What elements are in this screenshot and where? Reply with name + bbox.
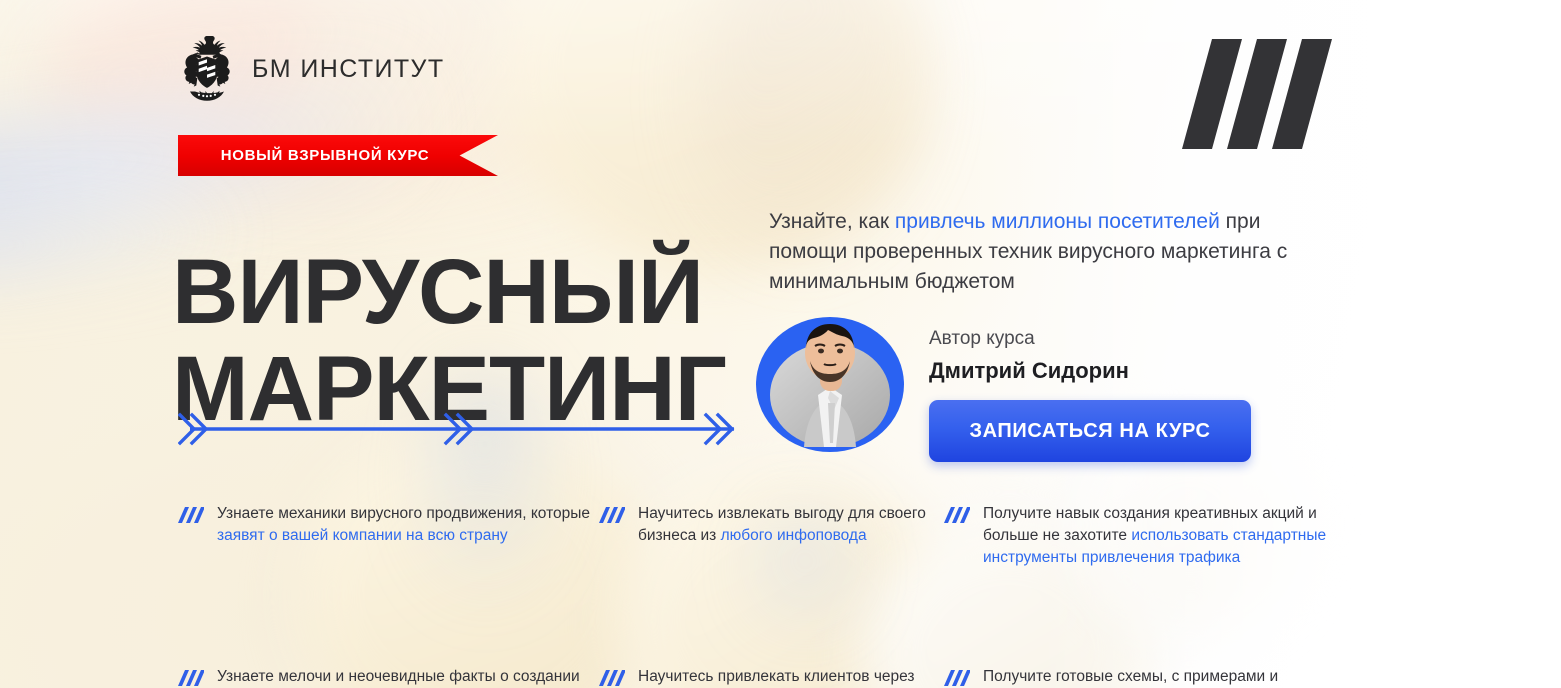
avatar [756,304,904,452]
feature-text: Научитесь извлекать выгоду для своего би… [638,503,944,569]
subtitle-highlight: привлечь миллионы посетителей [895,210,1220,233]
triple-slash-icon [178,670,204,688]
triple-slash-icon [944,507,970,569]
feature-row-2: Узнаете мелочи и неочевидные факты о соз… [178,666,1358,688]
feature-row-1: Узнаете механики вирусного продвижения, … [178,503,1358,569]
brand-name: БМ ИНСТИТУТ [252,55,445,84]
landing-page-hero: БМ ИНСТИТУТ НОВЫЙ ВЗРЫВНОЙ КУРС ВИРУСНЫЙ… [0,0,1561,688]
list-item: Получите готовые схемы, с примерами и ра… [944,666,1344,688]
author-photo [756,317,904,452]
feature-text: Получите навык создания креативных акций… [983,503,1344,569]
feature-segment: Научитесь привлекать клиентов через инте… [638,668,928,688]
triple-slash-icon [178,507,204,569]
page-title: ВИРУСНЫЙ МАРКЕТИНГ [172,248,792,434]
feature-text: Узнаете механики вирусного продвижения, … [217,503,599,569]
heraldic-crest-icon [176,33,238,105]
list-item: Научитесь извлекать выгоду для своего би… [599,503,944,569]
list-item: Научитесь привлекать клиентов через инте… [599,666,944,688]
subtitle-part-1: Узнайте, как [769,210,895,233]
list-item: Узнаете мелочи и неочевидные факты о соз… [178,666,599,688]
triple-slash-icon [944,670,970,688]
new-course-ribbon: НОВЫЙ ВЗРЫВНОЙ КУРС [178,135,498,176]
feature-text: Научитесь привлекать клиентов через инте… [638,666,944,688]
triple-slash-icon [1182,39,1332,149]
list-item: Узнаете механики вирусного продвижения, … [178,503,599,569]
feature-segment: Узнаете мелочи и неочевидные факты о соз… [217,668,580,685]
feature-segment-highlight: любого инфоповода [721,527,867,544]
brand-logo[interactable]: БМ ИНСТИТУТ [176,33,445,105]
feature-segment-highlight: заявят о вашей компании на всю страну [217,527,508,544]
enroll-button[interactable]: ЗАПИСАТЬСЯ НА КУРС [929,400,1251,462]
triple-slash-icon [599,507,625,569]
ribbon-label: НОВЫЙ ВЗРЫВНОЙ КУРС [221,147,456,164]
list-item: Получите навык создания креативных акций… [944,503,1344,569]
feature-text: Узнаете мелочи и неочевидные факты о соз… [217,666,599,688]
feature-text: Получите готовые схемы, с примерами и ра… [983,666,1344,688]
hero-subtitle: Узнайте, как привлечь миллионы посетител… [769,207,1289,296]
headline-line-1: ВИРУСНЫЙ [172,241,703,343]
feature-segment: Получите готовые схемы, с примерами и ра… [983,668,1331,688]
author-role: Автор курса [929,328,1129,350]
author-name: Дмитрий Сидорин [929,358,1129,384]
author-info: Автор курса Дмитрий Сидорин [929,328,1129,384]
triple-slash-icon [599,670,625,688]
feature-list: Узнаете механики вирусного продвижения, … [178,503,1358,688]
feature-segment: Узнаете механики вирусного продвижения, … [217,505,590,522]
triple-chevron-arrow-icon [178,412,740,446]
